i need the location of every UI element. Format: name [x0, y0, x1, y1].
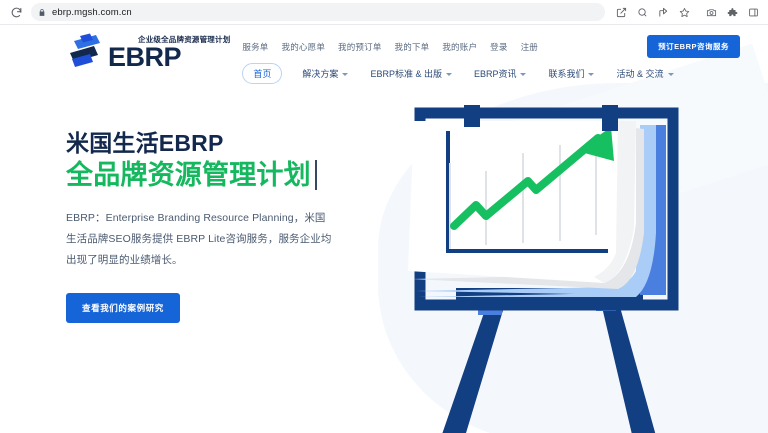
browser-actions: [611, 2, 768, 23]
address-bar[interactable]: ebrp.mgsh.com.cn: [31, 3, 605, 21]
view-case-studies-button[interactable]: 查看我们的案例研究: [66, 293, 180, 323]
extensions-puzzle-icon[interactable]: [722, 2, 743, 23]
reload-icon[interactable]: [5, 1, 27, 23]
utility-link-register[interactable]: 注册: [521, 41, 538, 53]
easel-growth-chart-illustration: [368, 83, 768, 433]
utility-link-login[interactable]: 登录: [490, 41, 507, 53]
book-consultation-button[interactable]: 预订EBRP咨询服务: [647, 35, 740, 58]
main-nav: 首页 解决方案 EBRP标准 & 出版 EBRP资讯 联系我们: [230, 63, 740, 84]
typing-caret: [315, 160, 317, 190]
nav-item-news-label: EBRP资讯: [474, 67, 517, 80]
nav-item-solutions[interactable]: 解决方案: [300, 64, 350, 83]
chevron-down-icon: [588, 73, 594, 76]
nav-item-home[interactable]: 首页: [242, 63, 282, 84]
utility-link-wishlist[interactable]: 我的心愿单: [282, 41, 326, 53]
side-panel-icon[interactable]: [743, 2, 764, 23]
site-logo[interactable]: 企业级全品牌资源管理计划 EBRP: [66, 33, 230, 73]
hero-copy: 米国生活EBRP 全品牌资源管理计划 EBRP：Enterprise Brand…: [66, 129, 366, 323]
hero-section: 米国生活EBRP 全品牌资源管理计划 EBRP：Enterprise Brand…: [0, 93, 768, 433]
share-icon[interactable]: [653, 2, 674, 23]
logo-text-block: 企业级全品牌资源管理计划 EBRP: [108, 35, 230, 71]
utility-link-reservations[interactable]: 我的预订单: [338, 41, 382, 53]
nav-item-events[interactable]: 活动 & 交流: [614, 64, 675, 83]
bookmark-star-icon[interactable]: [674, 2, 695, 23]
site-header: 企业级全品牌资源管理计划 EBRP 服务单 我的心愿单 我的预订单 我的下单 我…: [0, 25, 768, 93]
utility-link-my-account[interactable]: 我的账户: [442, 41, 477, 53]
chevron-down-icon: [520, 73, 526, 76]
chevron-down-icon: [668, 73, 674, 76]
nav-item-news[interactable]: EBRP资讯: [472, 64, 529, 83]
nav-item-standards-publishing[interactable]: EBRP标准 & 出版: [368, 64, 454, 83]
ebrp-logo-icon: [66, 33, 112, 73]
browser-toolbar: ebrp.mgsh.com.cn: [0, 0, 768, 25]
utility-link-my-orders[interactable]: 我的下单: [395, 41, 430, 53]
nav-item-contact-label: 联系我们: [548, 67, 584, 80]
header-right-column: 服务单 我的心愿单 我的预订单 我的下单 我的账户 登录 注册 预订EBRP咨询…: [230, 25, 740, 84]
utility-row: 服务单 我的心愿单 我的预订单 我的下单 我的账户 登录 注册 预订EBRP咨询…: [230, 25, 740, 59]
chevron-down-icon: [446, 73, 452, 76]
nav-item-standards-publishing-label: EBRP标准 & 出版: [370, 67, 442, 80]
chevron-down-icon: [342, 73, 348, 76]
hero-title-line2-wrap: 全品牌资源管理计划: [66, 159, 366, 191]
nav-item-contact[interactable]: 联系我们: [546, 64, 596, 83]
webpage-viewport: 企业级全品牌资源管理计划 EBRP 服务单 我的心愿单 我的预订单 我的下单 我…: [0, 25, 768, 433]
search-icon[interactable]: [632, 2, 653, 23]
nav-item-home-label: 首页: [253, 67, 271, 80]
logo-wordmark: EBRP: [108, 44, 230, 71]
lock-icon: [38, 8, 46, 17]
url-text: ebrp.mgsh.com.cn: [52, 7, 132, 18]
hero-paragraph: EBRP：Enterprise Branding Resource Planni…: [66, 208, 332, 271]
share-window-icon[interactable]: [611, 2, 632, 23]
nav-item-solutions-label: 解决方案: [302, 67, 338, 80]
hero-title-line1: 米国生活EBRP: [66, 129, 366, 157]
hero-title-line2: 全品牌资源管理计划: [66, 159, 311, 191]
utility-nav: 服务单 我的心愿单 我的预订单 我的下单 我的账户 登录 注册: [242, 41, 538, 53]
nav-item-events-label: 活动 & 交流: [616, 67, 663, 80]
utility-link-service-order[interactable]: 服务单: [242, 41, 268, 53]
screenshot-camera-icon[interactable]: [701, 2, 722, 23]
